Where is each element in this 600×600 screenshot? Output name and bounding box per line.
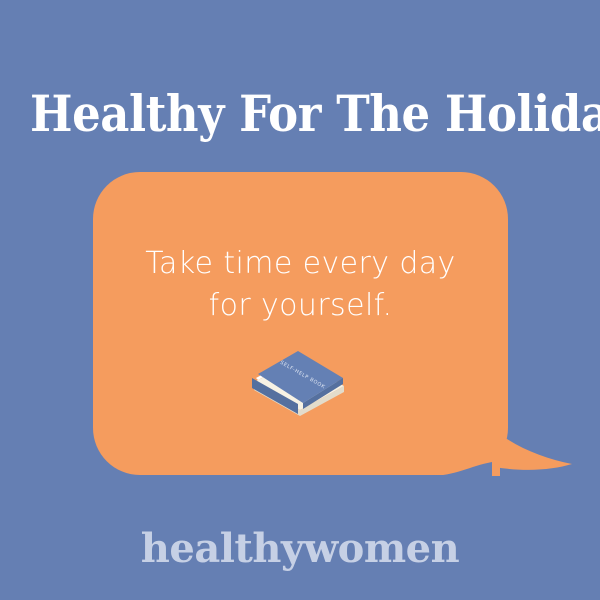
book-illustration: SELF-HELP BOOK xyxy=(240,340,360,420)
bubble-message-line-2: for yourself. xyxy=(93,285,508,327)
poster-canvas: Healthy For The Holidays Take time every… xyxy=(0,0,600,600)
bubble-message: Take time every day for yourself. xyxy=(93,243,508,327)
page-title: Healthy For The Holidays xyxy=(30,86,570,142)
speech-bubble-tail-joint xyxy=(450,400,500,476)
brand-logo: healthywomen xyxy=(0,525,600,573)
bubble-message-line-1: Take time every day xyxy=(93,243,508,285)
book-icon: SELF-HELP BOOK xyxy=(240,340,360,420)
